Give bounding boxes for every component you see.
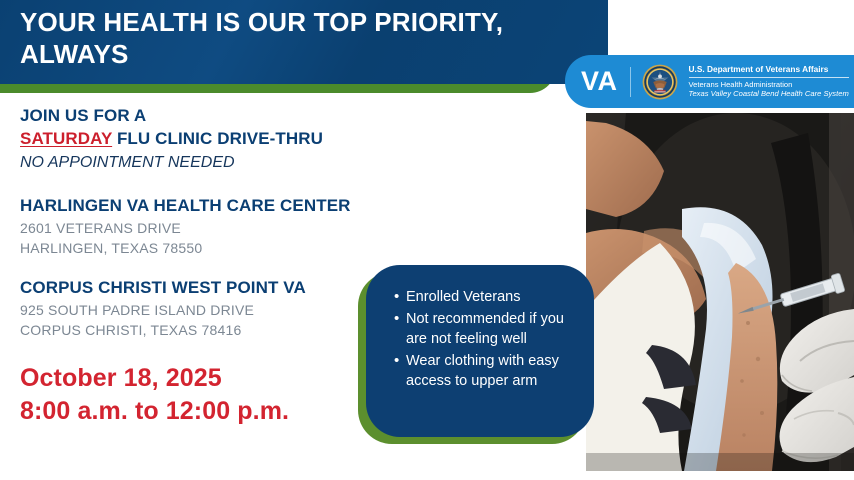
invite-line-2: SATURDAY FLU CLINIC DRIVE-THRU <box>20 127 380 150</box>
list-item: •Wear clothing with easy access to upper… <box>394 351 578 392</box>
list-item-label: Enrolled Veterans <box>406 289 520 305</box>
va-rule <box>689 77 849 78</box>
vaccination-photo-art <box>586 113 854 471</box>
list-item: •Not recommended if you are not feeling … <box>394 309 578 350</box>
requirements-box: •Enrolled Veterans •Not recommended if y… <box>366 265 594 437</box>
site-street: 2601 VETERANS DRIVE <box>20 218 380 238</box>
event-date: October 18, 2025 <box>20 362 380 395</box>
vaccination-photo <box>586 113 854 471</box>
list-item-label: Not recommended if you are not feeling w… <box>406 311 564 348</box>
invitation-block: JOIN US FOR A SATURDAY FLU CLINIC DRIVE-… <box>20 104 380 176</box>
bullet-icon: • <box>394 351 399 372</box>
site-name: CORPUS CHRISTI WEST POINT VA <box>20 275 380 300</box>
invite-line-2-rest: FLU CLINIC DRIVE-THRU <box>112 129 323 148</box>
site-citystate: HARLINGEN, TEXAS 78550 <box>20 238 380 258</box>
va-agency-text: U.S. Department of Veterans Affairs Vete… <box>689 64 849 99</box>
saturday-highlight: SATURDAY <box>20 129 112 148</box>
bullet-icon: • <box>394 287 399 308</box>
site-name: HARLINGEN VA HEALTH CARE CENTER <box>20 193 380 218</box>
va-department-line: U.S. Department of Veterans Affairs <box>689 64 849 75</box>
list-item-label: Wear clothing with easy access to upper … <box>406 353 559 390</box>
flyer-content: JOIN US FOR A SATURDAY FLU CLINIC DRIVE-… <box>20 104 380 428</box>
va-system-line: Texas Valley Coastal Bend Health Care Sy… <box>689 89 849 99</box>
list-item: •Enrolled Veterans <box>394 287 578 308</box>
va-seal-icon <box>642 64 678 100</box>
page-title: YOUR HEALTH IS OUR TOP PRIORITY, ALWAYS <box>20 6 560 70</box>
site-corpus-christi: CORPUS CHRISTI WEST POINT VA 925 SOUTH P… <box>20 275 380 340</box>
site-citystate: CORPUS CHRISTI, TEXAS 78416 <box>20 320 380 340</box>
event-datetime: October 18, 2025 8:00 a.m. to 12:00 p.m. <box>20 362 380 428</box>
no-appointment-note: NO APPOINTMENT NEEDED <box>20 150 380 176</box>
event-time: 8:00 a.m. to 12:00 p.m. <box>20 395 380 428</box>
va-wordmark: VA <box>581 68 618 95</box>
site-street: 925 SOUTH PADRE ISLAND DRIVE <box>20 300 380 320</box>
invite-line-1: JOIN US FOR A <box>20 104 380 127</box>
va-divider <box>630 67 631 97</box>
va-logo-bar: VA U.S. Department of Veterans Affairs V… <box>565 55 854 108</box>
bullet-icon: • <box>394 309 399 330</box>
requirements-list: •Enrolled Veterans •Not recommended if y… <box>366 265 594 392</box>
site-harlingen: HARLINGEN VA HEALTH CARE CENTER 2601 VET… <box>20 193 380 258</box>
va-administration-line: Veterans Health Administration <box>689 80 849 90</box>
flyer-canvas: YOUR HEALTH IS OUR TOP PRIORITY, ALWAYS … <box>0 0 854 480</box>
